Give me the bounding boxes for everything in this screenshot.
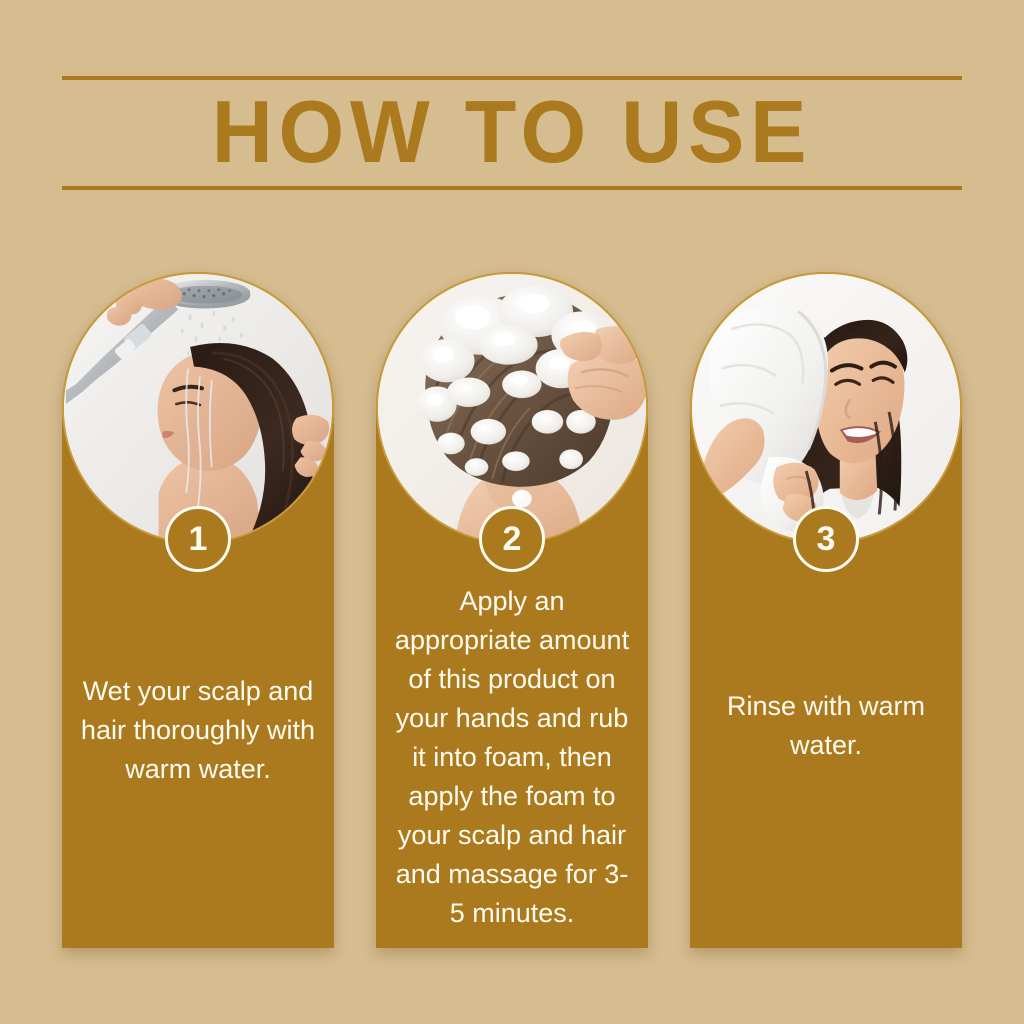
steps-container: 1 Wet your scalp and hair thoroughly wit… xyxy=(62,272,962,952)
header: HOW TO USE xyxy=(62,70,962,192)
step-card-2[interactable]: 2 Apply an appropriate amount of this pr… xyxy=(376,272,648,948)
shampoo-lather-image xyxy=(378,274,646,542)
towel-dry-image xyxy=(692,274,960,542)
step-card-3[interactable]: 3 Rinse with warm water. xyxy=(690,272,962,948)
title-rule-bottom xyxy=(62,186,962,190)
step-number-badge-1: 1 xyxy=(165,506,231,572)
step-text-3: Rinse with warm water. xyxy=(704,687,948,765)
step-text-1: Wet your scalp and hair thoroughly with … xyxy=(76,672,320,789)
step-2-photo xyxy=(376,272,648,544)
step-3-photo xyxy=(690,272,962,544)
page-title: HOW TO USE xyxy=(80,84,944,180)
step-1-photo xyxy=(62,272,334,544)
title-rule-top xyxy=(62,76,962,80)
step-number-badge-3: 3 xyxy=(793,506,859,572)
step-text-2: Apply an appropriate amount of this prod… xyxy=(390,582,634,933)
step-card-1[interactable]: 1 Wet your scalp and hair thoroughly wit… xyxy=(62,272,334,948)
shower-rinse-image xyxy=(64,274,332,542)
step-number-badge-2: 2 xyxy=(479,506,545,572)
infographic-canvas: HOW TO USE xyxy=(0,0,1024,1024)
